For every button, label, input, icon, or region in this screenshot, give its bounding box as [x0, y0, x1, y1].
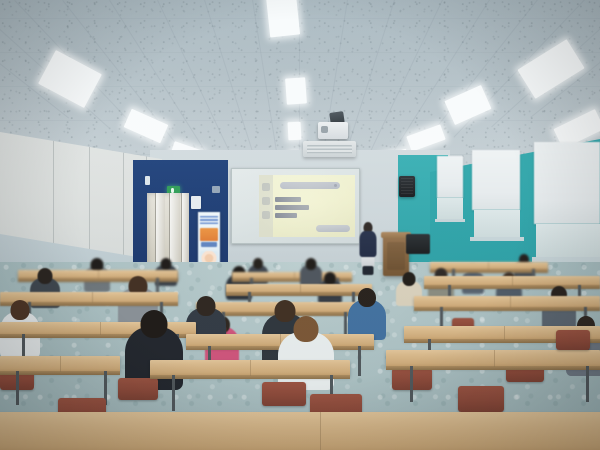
desk-leg [344, 312, 347, 336]
desk-edge [386, 366, 600, 370]
desk-surface [0, 412, 600, 450]
attendee-head [294, 316, 319, 342]
desk-leg [586, 366, 589, 402]
attendee-head [141, 310, 168, 338]
attendee-head [11, 300, 30, 320]
desk-seam [510, 296, 511, 308]
attendee-head [161, 258, 172, 270]
attendee-head [306, 258, 317, 270]
desk-leg [410, 366, 413, 402]
attendee-head [197, 296, 216, 316]
desk-seam [92, 292, 93, 303]
attendee-head [38, 268, 53, 284]
chair-back [556, 330, 590, 350]
desk-leg [172, 375, 175, 411]
classroom-desk [150, 360, 350, 376]
attendee-head [253, 258, 263, 269]
desk-seam [300, 284, 301, 293]
chair-back [262, 382, 306, 406]
classroom-desk [0, 412, 600, 450]
chair-back [118, 378, 158, 400]
desk-seam [494, 350, 495, 367]
classroom-chair[interactable] [556, 330, 590, 350]
furniture-layer [0, 0, 600, 450]
desk-leg [16, 371, 19, 405]
desk-seam [98, 270, 99, 279]
attendee [348, 288, 386, 340]
attendee-head [358, 288, 376, 307]
desk-seam [60, 356, 61, 372]
classroom-chair[interactable] [262, 382, 306, 406]
desk-seam [488, 262, 489, 270]
classroom-chair[interactable] [118, 378, 158, 400]
desk-seam [504, 326, 505, 340]
desk-leg [358, 346, 361, 376]
classroom-desk [0, 356, 120, 372]
chair-back [458, 386, 504, 412]
desk-seam [100, 322, 101, 335]
desk-seam [294, 272, 295, 279]
desk-seam [512, 276, 513, 286]
classroom-chair[interactable] [458, 386, 504, 412]
attendee-head [403, 272, 416, 286]
desk-seam [320, 412, 321, 450]
classroom-desk [386, 350, 600, 367]
desk-seam [250, 360, 251, 376]
desk-surface [386, 350, 600, 367]
classroom-photo [0, 0, 600, 450]
